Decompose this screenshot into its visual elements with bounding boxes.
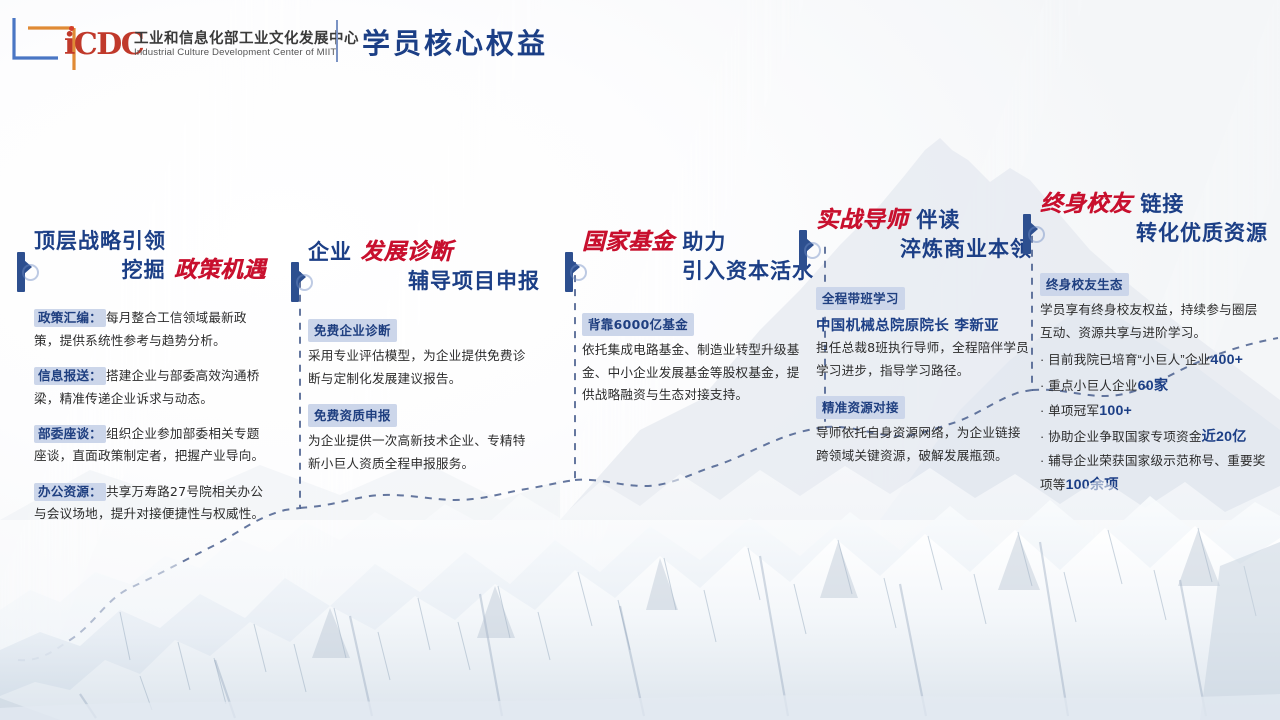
icdc-logo: iCDC [12, 14, 132, 72]
column-heading: 企业 发展诊断 辅导项目申报 [308, 238, 540, 295]
poster-canvas: iCDC 工业和信息化部工业文化发展中心 Industrial Culture … [0, 0, 1280, 720]
block-text: 担任总裁8班执行导师，全程陪伴学员学习进步，指导学习路径。 [816, 337, 1032, 382]
info-block: 背靠6000亿基金 依托集成电路基金、制造业转型升级基金、中小企业发展基金等股权… [582, 313, 812, 406]
info-block: 精准资源对接 导师依托自身资源网络，为企业链接跨领域关键资源，破解发展瓶颈。 [816, 396, 1032, 467]
org-name-en: Industrial Culture Development Center of… [134, 47, 336, 58]
list-item: · 目前我院已培育“小巨人”企业400+ [1040, 348, 1266, 374]
bullet-number: 近20亿 [1202, 429, 1247, 445]
block-tag: 信息报送： [34, 367, 106, 385]
mentor-name: 中国机械总院原院长 李新亚 [816, 314, 1032, 335]
heading-line-2-blue: 挖掘 [122, 258, 174, 282]
heading-line-1-blue: 企业 [308, 240, 360, 264]
column-fund: 国家基金 助力 引入资本活水 背靠6000亿基金 依托集成电路基金、制造业转型升… [566, 228, 816, 420]
bullet-text: · 重点小巨人企业 [1040, 379, 1138, 393]
block-tag: 免费资质申报 [308, 404, 397, 427]
column-marker-flag-icon [565, 252, 577, 292]
column-body: 免费企业诊断 采用专业评估模型，为企业提供免费诊断与定制化发展建议报告。 免费资… [308, 319, 538, 475]
heading-line-2: 引入资本活水 [582, 258, 814, 286]
bullet-text: · 协助企业争取国家专项资金 [1040, 430, 1202, 444]
column-heading: 终身校友 链接 转化优质资源 [1040, 190, 1268, 247]
column-heading: 实战导师 伴读 淬炼商业本领 [816, 206, 1032, 263]
org-name-cn: 工业和信息化部工业文化发展中心 [134, 27, 359, 48]
column-body: 全程带班学习 中国机械总院原院长 李新亚 担任总裁8班执行导师，全程陪伴学员学习… [816, 287, 1032, 467]
bullet-number: 400+ [1210, 352, 1243, 368]
column-heading: 国家基金 助力 引入资本活水 [582, 228, 814, 285]
block-tag: 政策汇编： [34, 309, 106, 327]
bullet-text: · 单项冠军 [1040, 404, 1099, 418]
column-mentor: 实战导师 伴读 淬炼商业本领 全程带班学习 中国机械总院原院长 李新亚 担任总裁… [800, 206, 1032, 480]
heading-line-1-red: 实战导师 [816, 207, 908, 233]
heading-line-1-red: 国家基金 [582, 229, 674, 255]
block-tag: 背靠6000亿基金 [582, 313, 694, 336]
heading-line-1-blue: 助力 [674, 230, 726, 254]
bullet-text: · 目前我院已培育“小巨人”企业 [1040, 353, 1210, 367]
column-marker-flag-icon [799, 230, 811, 270]
list-item: · 协助企业争取国家专项资金近20亿 [1040, 425, 1266, 451]
block-tag: 免费企业诊断 [308, 319, 397, 342]
heading-line-2: 转化优质资源 [1040, 220, 1268, 248]
info-block: 政策汇编：每月整合工信领域最新政策，提供系统性参考与趋势分析。 [34, 307, 266, 352]
heading-line-1-blue: 链接 [1132, 192, 1184, 216]
heading-line-1-red: 发展诊断 [360, 239, 452, 265]
column-marker-flag-icon [17, 252, 29, 292]
block-tag: 终身校友生态 [1040, 273, 1129, 296]
column-alumni: 终身校友 链接 转化优质资源 终身校友生态 学员享有终身校友权益，持续参与圈层互… [1024, 190, 1268, 499]
info-block: 终身校友生态 学员享有终身校友权益，持续参与圈层互动、资源共享与进阶学习。 [1040, 273, 1266, 344]
block-text: 采用专业评估模型，为企业提供免费诊断与定制化发展建议报告。 [308, 345, 538, 390]
info-block: 全程带班学习 中国机械总院原院长 李新亚 担任总裁8班执行导师，全程陪伴学员学习… [816, 287, 1032, 382]
info-block: 免费企业诊断 采用专业评估模型，为企业提供免费诊断与定制化发展建议报告。 [308, 319, 538, 390]
logo-wordmark: iCDC [64, 30, 143, 60]
heading-line-1-red: 终身校友 [1040, 191, 1132, 217]
column-diagnosis: 企业 发展诊断 辅导项目申报 免费企业诊断 采用专业评估模型，为企业提供免费诊断… [292, 238, 542, 488]
page-title: 学员核心权益 [362, 22, 548, 62]
block-tag: 精准资源对接 [816, 396, 905, 419]
heading-line-2: 辅导项目申报 [308, 268, 540, 296]
header-divider [336, 20, 338, 62]
info-block: 信息报送：搭建企业与部委高效沟通桥梁，精准传递企业诉求与动态。 [34, 365, 266, 410]
column-body: 背靠6000亿基金 依托集成电路基金、制造业转型升级基金、中小企业发展基金等股权… [582, 313, 812, 406]
column-marker-flag-icon [1023, 214, 1035, 254]
block-text: 学员享有终身校友权益，持续参与圈层互动、资源共享与进阶学习。 [1040, 299, 1266, 344]
block-text: 依托集成电路基金、制造业转型升级基金、中小企业发展基金等股权基金，提供战略融资与… [582, 339, 812, 406]
bullet-number: 60家 [1138, 378, 1169, 394]
heading-line-1-blue: 伴读 [908, 208, 960, 232]
list-item: · 单项冠军100+ [1040, 399, 1266, 425]
list-item: · 重点小巨人企业60家 [1040, 374, 1266, 400]
bullet-number: 100+ [1099, 403, 1132, 419]
heading-line-1: 顶层战略引领 [34, 228, 266, 256]
block-tag: 全程带班学习 [816, 287, 905, 310]
heading-line-2: 淬炼商业本领 [816, 236, 1032, 264]
block-tag: 部委座谈： [34, 425, 106, 443]
column-heading: 顶层战略引领 挖掘 政策机遇 [34, 228, 266, 285]
column-marker-flag-icon [291, 262, 303, 302]
page-header: iCDC 工业和信息化部工业文化发展中心 Industrial Culture … [0, 0, 1280, 84]
snow-mountain-illustration [0, 460, 1280, 720]
heading-line-2-red: 政策机遇 [174, 257, 266, 283]
